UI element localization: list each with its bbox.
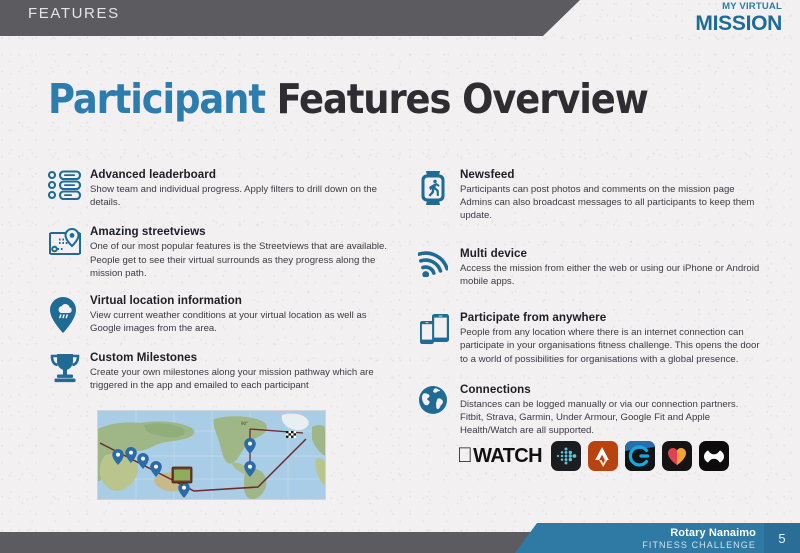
feature-body: Participants can post photos and comment… [460,183,763,223]
feature-body: Access the mission from either the web o… [460,262,763,288]
my-virtual-mission-logo: MY VIRTUAL MISSION [664,2,782,36]
feature-custom-milestones: Custom Milestones Create your own milest… [48,351,393,392]
under-armour-logo [699,441,729,471]
fitbit-logo [551,441,581,471]
page-title-accent: Participant [48,75,265,123]
feature-heading: Connections [460,383,763,396]
feature-body: Distances can be logged manually or via … [460,398,763,438]
feature-heading: Amazing streetviews [90,225,393,238]
apple-icon:  [457,445,472,466]
apple-watch-label: WATCH [473,445,542,468]
footer-gray-bar [0,532,548,553]
feature-advanced-leaderboard: Advanced leaderboard Show team and indiv… [48,168,393,209]
feature-newsfeed: Newsfeed Participants can post photos an… [418,168,763,223]
page-title: Participant Features Overview [48,78,648,121]
streetview-map-icon [48,225,90,280]
apple-health-logo [662,441,692,471]
globe-icon [418,383,460,438]
smartwatch-runner-icon [418,168,460,223]
features-column-left: Advanced leaderboard Show team and indiv… [48,168,393,406]
strava-logo [588,441,618,471]
feature-heading: Virtual location information [90,294,393,307]
feature-heading: Custom Milestones [90,351,393,364]
footer-branding: Rotary Nanaimo FITNESS CHALLENGE [642,527,756,551]
wireless-signal-icon [418,247,460,288]
feature-heading: Participate from anywhere [460,311,763,324]
leaderboard-icon [48,168,90,209]
page-number: 5 [764,523,800,553]
slide-root: FEATURES MY VIRTUAL MISSION Participant … [0,0,800,553]
feature-body: View current weather conditions at your … [90,309,393,335]
weather-location-pin-icon [48,294,90,335]
feature-heading: Advanced leaderboard [90,168,393,181]
feature-amazing-streetviews: Amazing streetviews One of our most popu… [48,225,393,280]
apple-watch-logo:  WATCH [457,445,542,468]
world-map-mission-route: 90° [97,410,326,500]
logo-line-2: MISSION [664,13,782,34]
feature-participate-from-anywhere: Participate from anywhere People from an… [418,311,763,366]
svg-text:90°: 90° [241,421,248,426]
footer-tagline: FITNESS CHALLENGE [642,540,756,551]
feature-body: One of our most popular features is the … [90,240,393,280]
partner-logos-row:  WATCH [457,441,729,471]
header-section-label: FEATURES [28,5,120,22]
feature-heading: Multi device [460,247,763,260]
features-column-right: Newsfeed Participants can post photos an… [418,168,763,452]
feature-multi-device: Multi device Access the mission from eit… [418,247,763,288]
mobile-devices-icon [418,311,460,366]
logo-line-1: MY VIRTUAL [664,2,782,12]
feature-body: Show team and individual progress. Apply… [90,183,393,209]
feature-heading: Newsfeed [460,168,763,181]
garmin-connect-logo [625,441,655,471]
footer-org-name: Rotary Nanaimo [642,527,756,540]
feature-body: People from any location where there is … [460,326,763,366]
feature-connections: Connections Distances can be logged manu… [418,383,763,438]
feature-virtual-location-information: Virtual location information View curren… [48,294,393,335]
page-title-rest: Features Overview [265,75,648,123]
trophy-icon [48,351,90,392]
feature-body: Create your own milestones along your mi… [90,366,393,392]
